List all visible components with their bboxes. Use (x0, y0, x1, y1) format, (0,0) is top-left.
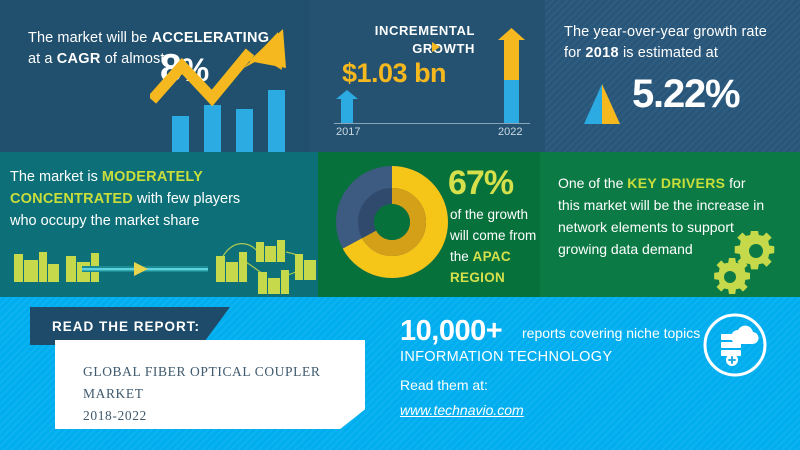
apac-statement: of the growth will come from the APAC RE… (450, 204, 546, 288)
report-card[interactable]: GLOBAL FIBER OPTICAL COUPLER MARKET 2018… (55, 340, 365, 429)
apac-line1: of the growth (450, 207, 528, 222)
bar-1 (172, 116, 189, 152)
incremental-label-2: GROWTH (412, 41, 475, 56)
incremental-growth-value: $1.03 bn (342, 58, 446, 89)
drv-line4: growing data demand (558, 241, 693, 257)
yoy-line1: The year-over-year growth rate (564, 24, 767, 40)
cagr-line2-b: CAGR (57, 51, 101, 67)
apac-label: APAC (473, 249, 511, 264)
cloud-server-icon (702, 312, 768, 378)
market-concentration-panel: The market is MODERATELY CONCENTRATED wi… (0, 152, 318, 297)
read-them-at-label: Read them at: (400, 377, 488, 393)
conc-line2-b: with few players (133, 191, 240, 207)
report-title: GLOBAL FIBER OPTICAL COUPLER MARKET 2018… (83, 361, 348, 427)
yoy-line2-a: for (564, 45, 585, 61)
report-title-line2: 2018-2022 (83, 408, 147, 423)
key-drivers-panel: One of the KEY DRIVERS for this market w… (540, 152, 800, 297)
yoy-year: 2018 (585, 45, 618, 61)
footer-row: READ THE REPORT: GLOBAL FIBER OPTICAL CO… (0, 297, 800, 450)
mid-row: The market is MODERATELY CONCENTRATED wi… (0, 152, 800, 297)
drv-line2: this market will be the increase in (558, 197, 764, 213)
growth-arrow-2022 (498, 28, 525, 123)
report-title-line1: GLOBAL FIBER OPTICAL COUPLER MARKET (83, 364, 320, 401)
incremental-growth-label: INCREMENTAL GROWTH (345, 22, 475, 58)
conc-moderately: MODERATELY (102, 169, 203, 185)
drv-line1-c: for (725, 175, 745, 191)
axis-label-2022: 2022 (498, 126, 522, 138)
top-row: The market will be ACCELERATING at a CAG… (0, 0, 800, 152)
incremental-axis-line (334, 123, 530, 124)
apac-growth-panel: 67% of the growth will come from the APA… (318, 152, 540, 297)
city-buildings-icon (0, 240, 318, 297)
conc-line1-a: The market is (10, 169, 102, 185)
infographic-root: The market will be ACCELERATING at a CAG… (0, 0, 800, 450)
apac-region-label: REGION (450, 270, 505, 285)
read-the-report-banner: READ THE REPORT: (30, 307, 230, 345)
incremental-label-1: INCREMENTAL (375, 23, 475, 38)
play-triangle-icon (432, 42, 440, 52)
report-count: 10,000+ (400, 315, 502, 348)
drv-key-drivers: KEY DRIVERS (627, 175, 725, 191)
apac-line2: will come from (450, 228, 536, 243)
growth-arrow-2017 (336, 90, 358, 123)
conc-concentrated: CONCENTRATED (10, 191, 133, 207)
apac-donut-chart (336, 166, 448, 278)
yoy-value: 5.22% (632, 72, 739, 117)
report-category: INFORMATION TECHNOLOGY (400, 349, 612, 365)
yoy-statement: The year-over-year growth rate for 2018 … (564, 22, 792, 64)
axis-label-2017: 2017 (336, 126, 360, 138)
apac-line3-a: the (450, 249, 473, 264)
gears-icon (708, 231, 794, 297)
upward-zigzag-arrow-icon (150, 28, 298, 118)
technavio-url-link[interactable]: www.technavio.com (400, 402, 524, 418)
apac-percentage: 67% (448, 164, 513, 203)
cagr-line2-a: at a (28, 51, 57, 67)
drv-line1-a: One of the (558, 175, 627, 191)
conc-line3: who occupy the market share (10, 213, 199, 229)
cagr-line1-a: The market will be (28, 30, 152, 46)
two-tone-triangle-icon (580, 84, 624, 124)
report-count-caption: reports covering niche topics (522, 325, 700, 341)
concentration-statement: The market is MODERATELY CONCENTRATED wi… (10, 166, 310, 232)
yoy-line2-c: is estimated at (619, 45, 718, 61)
